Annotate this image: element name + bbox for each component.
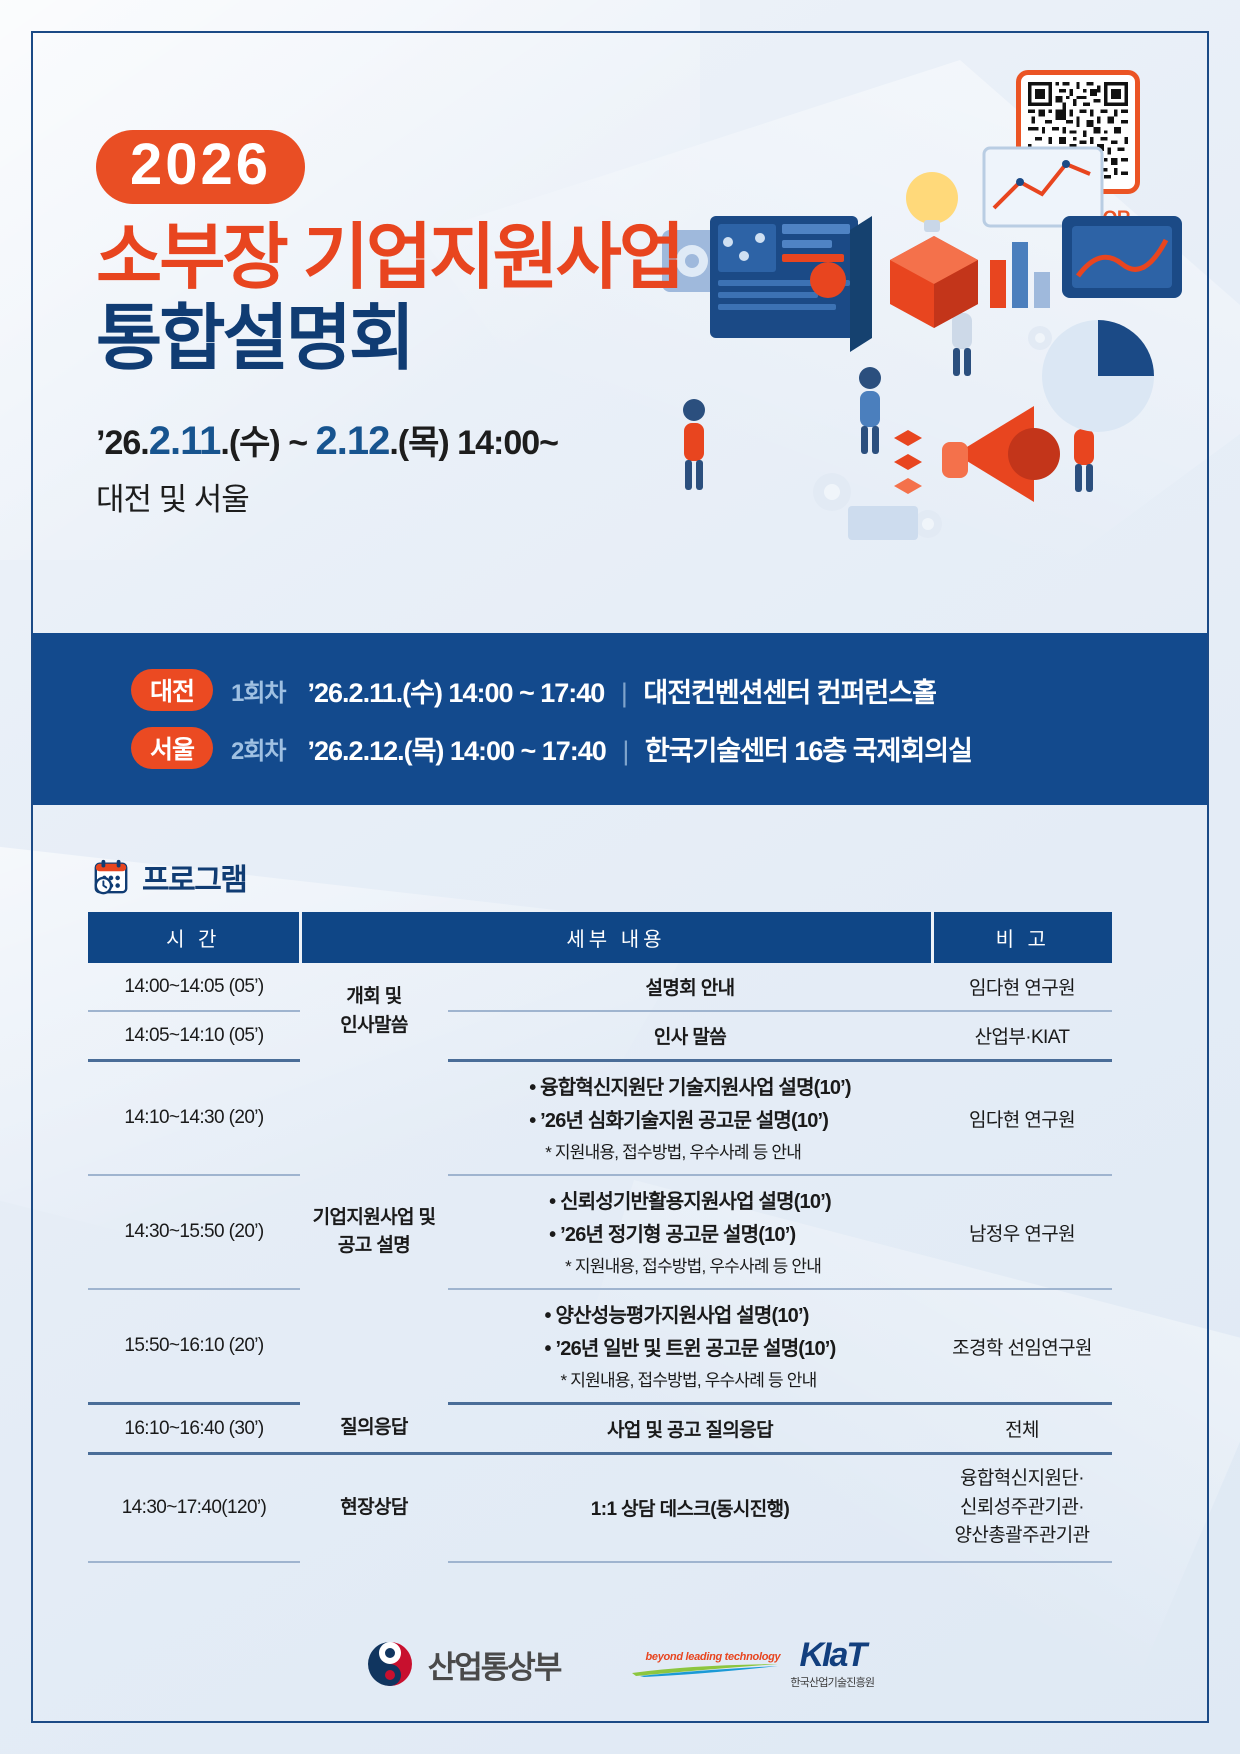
detail-bullet-list: 신뢰성기반활용지원사업 설명(10’) ’26년 정기형 공고문 설명(10’)… <box>549 1186 831 1277</box>
cell-time: 14:05~14:10 (05’) <box>88 1011 300 1061</box>
cell-time: 16:10~16:40 (30’) <box>88 1404 300 1454</box>
cell-note: 남정우 연구원 <box>932 1175 1112 1289</box>
ministry-logo: 산업통상부 <box>366 1640 561 1688</box>
poster-root: 사전등록 QR <box>0 0 1240 1754</box>
bullet-item: ’26년 심화기술지원 공고문 설명(10’) <box>529 1105 851 1138</box>
bullet-subnote: * 지원내용, 접수방법, 우수사례 등 안내 <box>545 1138 851 1163</box>
kiat-swoosh-icon <box>630 1663 780 1677</box>
cell-category: 기업지원사업 및 공고 설명 <box>300 1061 448 1404</box>
session-separator-1: | <box>621 678 627 708</box>
program-table: 시 간 세부 내용 비 고 14:00~14:05 (05’) 개회 및 인사말… <box>88 912 1112 1563</box>
kiat-logo: beyond leading technology KIaT 한국산업기술진흥원 <box>630 1638 874 1690</box>
col-header-note: 비 고 <box>932 912 1112 963</box>
table-header-row: 시 간 세부 내용 비 고 <box>88 912 1112 963</box>
session-row-daejeon: 대전 1회차 ’26.2.11.(수) 14:00 ~ 17:40 | 대전컨벤… <box>131 669 1207 711</box>
cell-category: 개회 및 인사말씀 <box>300 963 448 1061</box>
session-venue-2: 한국기술센터 16층 국제회의실 <box>645 736 972 766</box>
date-first-day: .(수) ~ <box>220 424 315 462</box>
cell-detail: 융합혁신지원단 기술지원사업 설명(10’) ’26년 심화기술지원 공고문 설… <box>448 1061 932 1176</box>
detail-bullet-list: 융합혁신지원단 기술지원사업 설명(10’) ’26년 심화기술지원 공고문 설… <box>529 1072 851 1163</box>
cell-time: 15:50~16:10 (20’) <box>88 1289 300 1404</box>
taegeuk-icon <box>366 1640 414 1688</box>
session-separator-2: | <box>622 736 628 766</box>
session-row-seoul: 서울 2회차 ’26.2.12.(목) 14:00 ~ 17:40 | 한국기술… <box>131 727 1207 769</box>
note-line-1: 융합혁신지원단· <box>936 1465 1108 1494</box>
category-line-1: 개회 및 <box>304 983 444 1012</box>
table-row: 14:30~15:50 (20’) 신뢰성기반활용지원사업 설명(10’) ’2… <box>88 1175 1112 1289</box>
cell-note: 산업부·KIAT <box>932 1011 1112 1061</box>
cell-detail: 인사 말씀 <box>448 1011 932 1061</box>
col-header-time: 시 간 <box>88 912 300 963</box>
cell-time: 14:10~14:30 (20’) <box>88 1061 300 1176</box>
ministry-name: 산업통상부 <box>428 1642 561 1687</box>
bullet-subnote: * 지원내용, 접수방법, 우수사례 등 안내 <box>565 1252 831 1277</box>
category-line-1: 기업지원사업 및 <box>304 1204 444 1233</box>
cell-detail: 양산성능평가지원사업 설명(10’) ’26년 일반 및 트윈 공고문 설명(1… <box>448 1289 932 1404</box>
cell-note: 조경학 선임연구원 <box>932 1289 1112 1404</box>
bullet-subnote: * 지원내용, 접수방법, 우수사례 등 안내 <box>561 1366 836 1391</box>
footer-logos: 산업통상부 beyond leading technology KIaT 한국산… <box>0 1638 1240 1690</box>
city-badge-daejeon: 대전 <box>131 669 213 711</box>
cell-time: 14:30~17:40(120’) <box>88 1454 300 1562</box>
poster-header: 2026 소부장 기업지원사업 통합설명회 ’26.2.11.(수) ~ 2.1… <box>96 130 856 519</box>
cell-detail: 설명회 안내 <box>448 963 932 1011</box>
program-section-header: 프로그램 <box>92 855 246 899</box>
bullet-item: ’26년 정기형 공고문 설명(10’) <box>549 1219 831 1252</box>
table-row: 14:00~14:05 (05’) 개회 및 인사말씀 설명회 안내 임다현 연… <box>88 963 1112 1011</box>
cell-time: 14:00~14:05 (05’) <box>88 963 300 1011</box>
bullet-item: 신뢰성기반활용지원사업 설명(10’) <box>549 1186 831 1219</box>
cell-note: 임다현 연구원 <box>932 963 1112 1011</box>
event-date-summary: ’26.2.11.(수) ~ 2.12.(목) 14:00~ <box>96 415 856 464</box>
table-row: 14:10~14:30 (20’) 기업지원사업 및 공고 설명 융합혁신지원단… <box>88 1061 1112 1176</box>
session-band: 대전 1회차 ’26.2.11.(수) 14:00 ~ 17:40 | 대전컨벤… <box>33 633 1207 805</box>
cell-detail: 1:1 상담 데스크(동시진행) <box>448 1454 932 1562</box>
page-title-line2: 통합설명회 <box>96 299 856 380</box>
session-order-1: 1회차 <box>231 673 286 708</box>
cell-detail: 사업 및 공고 질의응답 <box>448 1404 932 1454</box>
date-second: 2.12 <box>316 419 390 463</box>
session-info-1: ’26.2.11.(수) 14:00 ~ 17:40 | 대전컨벤션센터 컨퍼런… <box>308 671 936 710</box>
date-prefix: ’26. <box>96 424 149 462</box>
cell-time: 14:30~15:50 (20’) <box>88 1175 300 1289</box>
city-badge-seoul: 서울 <box>131 727 213 769</box>
table-row: 14:30~17:40(120’) 현장상담 1:1 상담 데스크(동시진행) … <box>88 1454 1112 1562</box>
date-first: 2.11 <box>149 419 221 463</box>
category-line-2: 공고 설명 <box>304 1232 444 1261</box>
bullet-item: ’26년 일반 및 트윈 공고문 설명(10’) <box>545 1333 836 1366</box>
event-place-summary: 대전 및 서울 <box>96 474 856 519</box>
year-badge: 2026 <box>96 130 305 204</box>
kiat-wordmark: KIaT <box>799 1638 865 1672</box>
table-row: 16:10~16:40 (30’) 질의응답 사업 및 공고 질의응답 전체 <box>88 1404 1112 1454</box>
cell-note: 전체 <box>932 1404 1112 1454</box>
note-line-3: 양산총괄주관기관 <box>936 1522 1108 1551</box>
session-datetime-2: ’26.2.12.(목) 14:00 ~ 17:40 <box>308 736 606 766</box>
cell-note: 임다현 연구원 <box>932 1061 1112 1176</box>
kiat-tagline: beyond leading technology <box>645 1651 780 1663</box>
session-order-2: 2회차 <box>231 731 286 766</box>
cell-category: 현장상담 <box>300 1454 448 1562</box>
date-second-day: .(목) 14:00~ <box>389 424 558 462</box>
table-row: 15:50~16:10 (20’) 양산성능평가지원사업 설명(10’) ’26… <box>88 1289 1112 1404</box>
kiat-korean-name: 한국산업기술진흥원 <box>790 1674 874 1690</box>
bullet-item: 양산성능평가지원사업 설명(10’) <box>545 1300 836 1333</box>
detail-bullet-list: 양산성능평가지원사업 설명(10’) ’26년 일반 및 트윈 공고문 설명(1… <box>545 1300 836 1391</box>
table-row: 14:05~14:10 (05’) 인사 말씀 산업부·KIAT <box>88 1011 1112 1061</box>
session-info-2: ’26.2.12.(목) 14:00 ~ 17:40 | 한국기술센터 16층 … <box>308 729 972 768</box>
page-title-line1: 소부장 기업지원사업 <box>96 218 856 299</box>
cell-note: 융합혁신지원단· 신뢰성주관기관· 양산총괄주관기관 <box>932 1454 1112 1562</box>
bullet-item: 융합혁신지원단 기술지원사업 설명(10’) <box>529 1072 851 1105</box>
category-line-2: 인사말씀 <box>304 1012 444 1041</box>
col-header-detail: 세부 내용 <box>300 912 932 963</box>
session-venue-1: 대전컨벤션센터 컨퍼런스홀 <box>643 678 936 708</box>
note-line-2: 신뢰성주관기관· <box>936 1494 1108 1523</box>
session-datetime-1: ’26.2.11.(수) 14:00 ~ 17:40 <box>308 678 605 708</box>
cell-category: 질의응답 <box>300 1404 448 1454</box>
calendar-clock-icon <box>92 858 130 896</box>
program-title: 프로그램 <box>142 855 246 899</box>
cell-detail: 신뢰성기반활용지원사업 설명(10’) ’26년 정기형 공고문 설명(10’)… <box>448 1175 932 1289</box>
